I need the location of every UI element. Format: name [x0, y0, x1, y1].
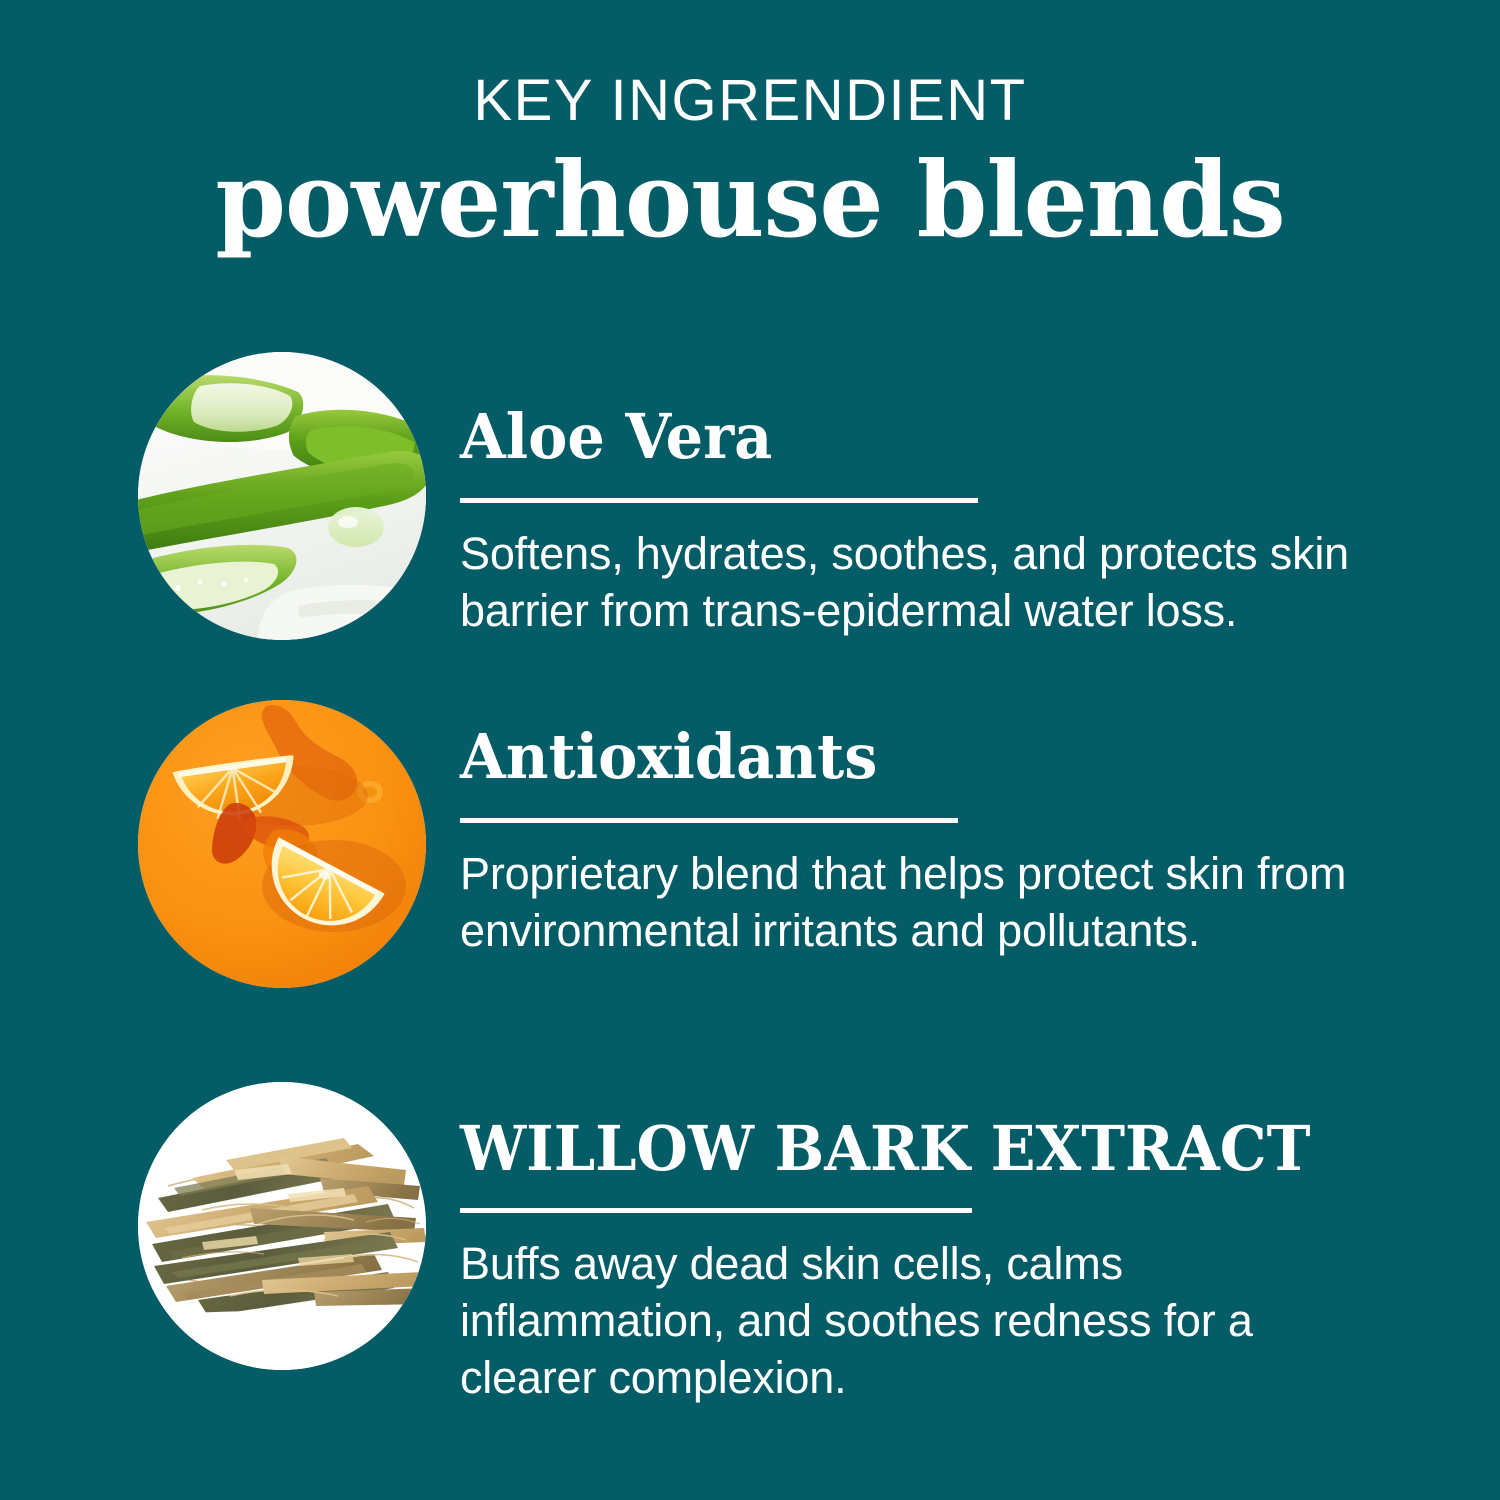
- ingredient-copy: Aloe Vera Softens, hydrates, soothes, an…: [460, 352, 1390, 639]
- ingredient-row: WILLOW BARK EXTRACT Buffs away dead skin…: [0, 1082, 1500, 1382]
- ingredient-row: Aloe Vera Softens, hydrates, soothes, an…: [0, 352, 1500, 652]
- aloe-vera-photo: [138, 352, 426, 640]
- citrus-slices-photo: [138, 700, 426, 988]
- eyebrow-label: KEY INGRENDIENT: [0, 72, 1500, 130]
- ingredient-title: Aloe Vera: [460, 352, 1344, 468]
- ingredient-title: WILLOW BARK EXTRACT: [460, 1082, 1344, 1180]
- ingredient-description: Buffs away dead skin cells, calms inflam…: [460, 1213, 1400, 1406]
- ingredient-description: Proprietary blend that helps protect ski…: [460, 823, 1400, 959]
- ingredient-row: Antioxidants Proprietary blend that help…: [0, 700, 1500, 1000]
- ingredient-poster: KEY INGRENDIENT powerhouse blends: [0, 0, 1500, 1500]
- ingredient-description: Softens, hydrates, soothes, and protects…: [460, 503, 1390, 639]
- ingredient-copy: WILLOW BARK EXTRACT Buffs away dead skin…: [460, 1082, 1390, 1406]
- poster-header: KEY INGRENDIENT powerhouse blends: [0, 0, 1500, 252]
- page-title: powerhouse blends: [23, 148, 1478, 252]
- ingredient-title: Antioxidants: [460, 700, 1344, 788]
- willow-bark-photo: [138, 1082, 426, 1370]
- ingredient-copy: Antioxidants Proprietary blend that help…: [460, 700, 1390, 959]
